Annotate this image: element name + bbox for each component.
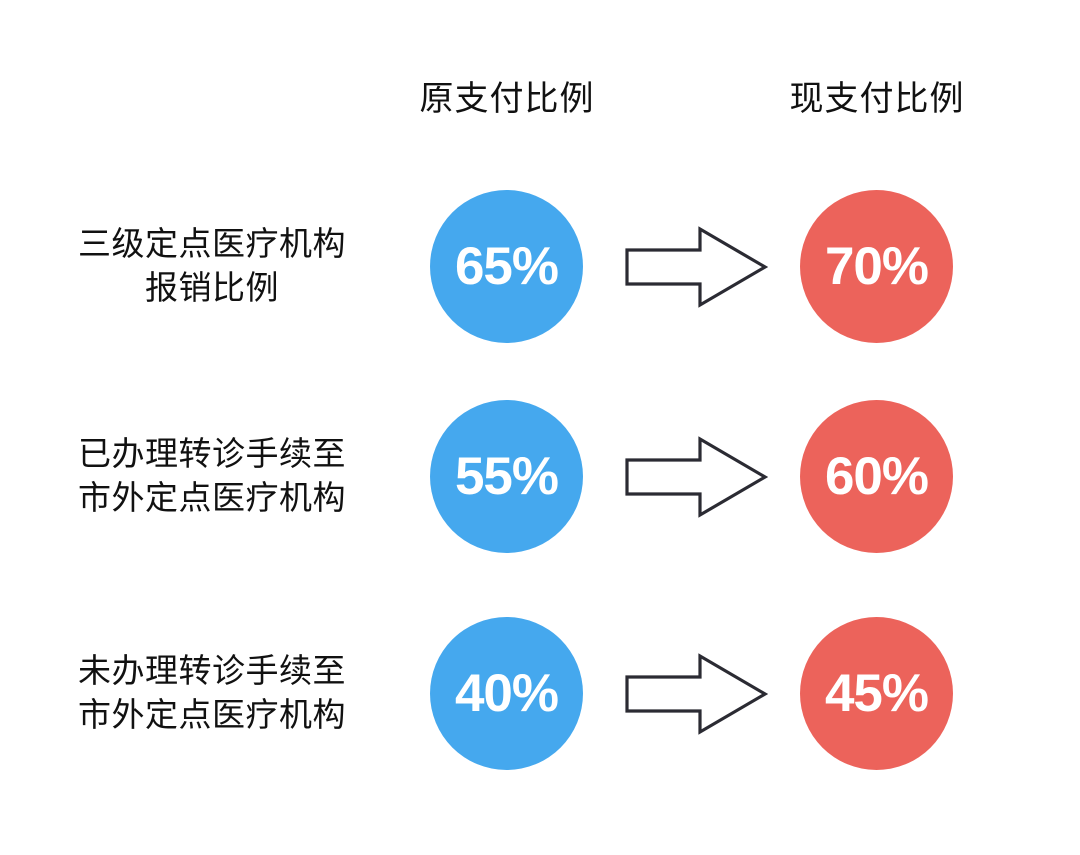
row-label: 三级定点医疗机构 报销比例 (12, 186, 412, 346)
row-label-line2: 市外定点医疗机构 (78, 693, 346, 737)
row-label-line1: 已办理转诊手续至 (78, 432, 346, 476)
after-value-circle: 60% (800, 400, 953, 553)
table-row: 未办理转诊手续至 市外定点医疗机构 40% 45% (0, 613, 1080, 773)
column-header-before: 原支付比例 (357, 78, 657, 120)
table-row: 已办理转诊手续至 市外定点医疗机构 55% 60% (0, 396, 1080, 556)
row-label: 未办理转诊手续至 市外定点医疗机构 (12, 613, 412, 773)
right-arrow-icon (624, 436, 768, 518)
row-label-line2: 报销比例 (145, 266, 279, 310)
row-label-line1: 未办理转诊手续至 (78, 649, 346, 693)
right-arrow-icon (624, 226, 768, 308)
payment-ratio-infographic: 原支付比例 现支付比例 三级定点医疗机构 报销比例 65% 70% 已办理转诊手… (0, 0, 1080, 855)
row-label: 已办理转诊手续至 市外定点医疗机构 (12, 396, 412, 556)
row-label-line2: 市外定点医疗机构 (78, 476, 346, 520)
row-label-line1: 三级定点医疗机构 (78, 222, 346, 266)
right-arrow-icon (624, 653, 768, 735)
after-value-circle: 70% (800, 190, 953, 343)
before-value-circle: 65% (430, 190, 583, 343)
after-value-circle: 45% (800, 617, 953, 770)
column-header-after: 现支付比例 (727, 78, 1027, 120)
before-value-circle: 40% (430, 617, 583, 770)
table-row: 三级定点医疗机构 报销比例 65% 70% (0, 186, 1080, 346)
before-value-circle: 55% (430, 400, 583, 553)
